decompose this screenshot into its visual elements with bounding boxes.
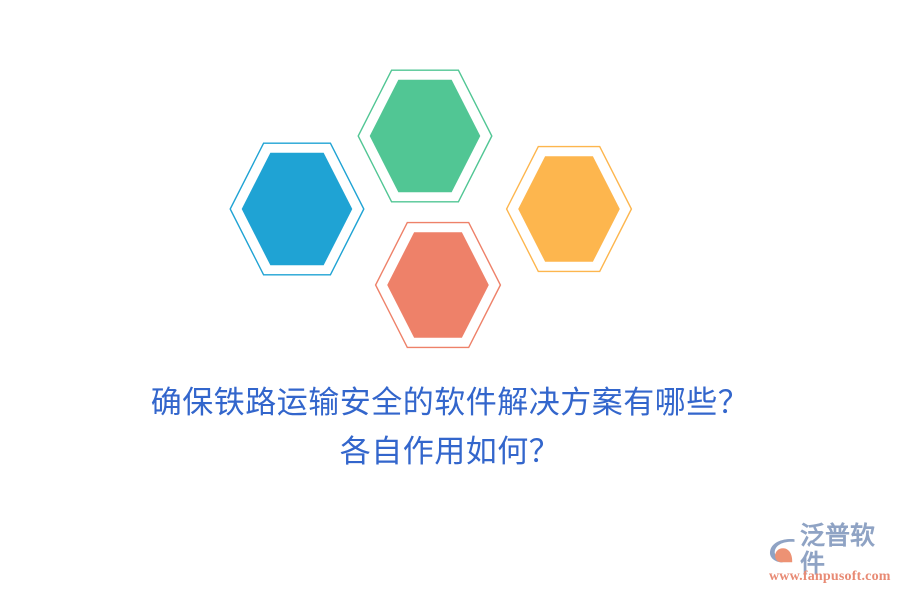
page-title-line-2: 各自作用如何？: [0, 427, 900, 476]
fan-arc-logo-icon: [768, 536, 798, 564]
orange-hexagon: [507, 147, 632, 272]
brand-watermark: 泛普软件 www.fanpusoft.com: [768, 533, 894, 589]
orange-hexagon-fill: [518, 156, 620, 262]
green-hexagon: [358, 70, 492, 202]
salmon-hexagon: [376, 223, 501, 348]
blue-hexagon: [230, 143, 364, 275]
green-hexagon-fill: [370, 80, 481, 193]
salmon-hexagon-fill: [387, 232, 489, 338]
slide-canvas: 确保铁路运输安全的软件解决方案有哪些？ 各自作用如何？ 泛普软件 www.fan…: [0, 0, 900, 600]
blue-hexagon-fill: [242, 153, 353, 266]
hexagon-cluster-graphic: [0, 0, 900, 380]
page-title-line-1: 确保铁路运输安全的软件解决方案有哪些？: [0, 378, 900, 427]
brand-url: www.fanpusoft.com: [769, 568, 891, 586]
hexagon-cluster-svg: [0, 0, 900, 380]
brand-lockup: 泛普软件: [768, 533, 894, 567]
page-title: 确保铁路运输安全的软件解决方案有哪些？ 各自作用如何？: [0, 378, 900, 476]
